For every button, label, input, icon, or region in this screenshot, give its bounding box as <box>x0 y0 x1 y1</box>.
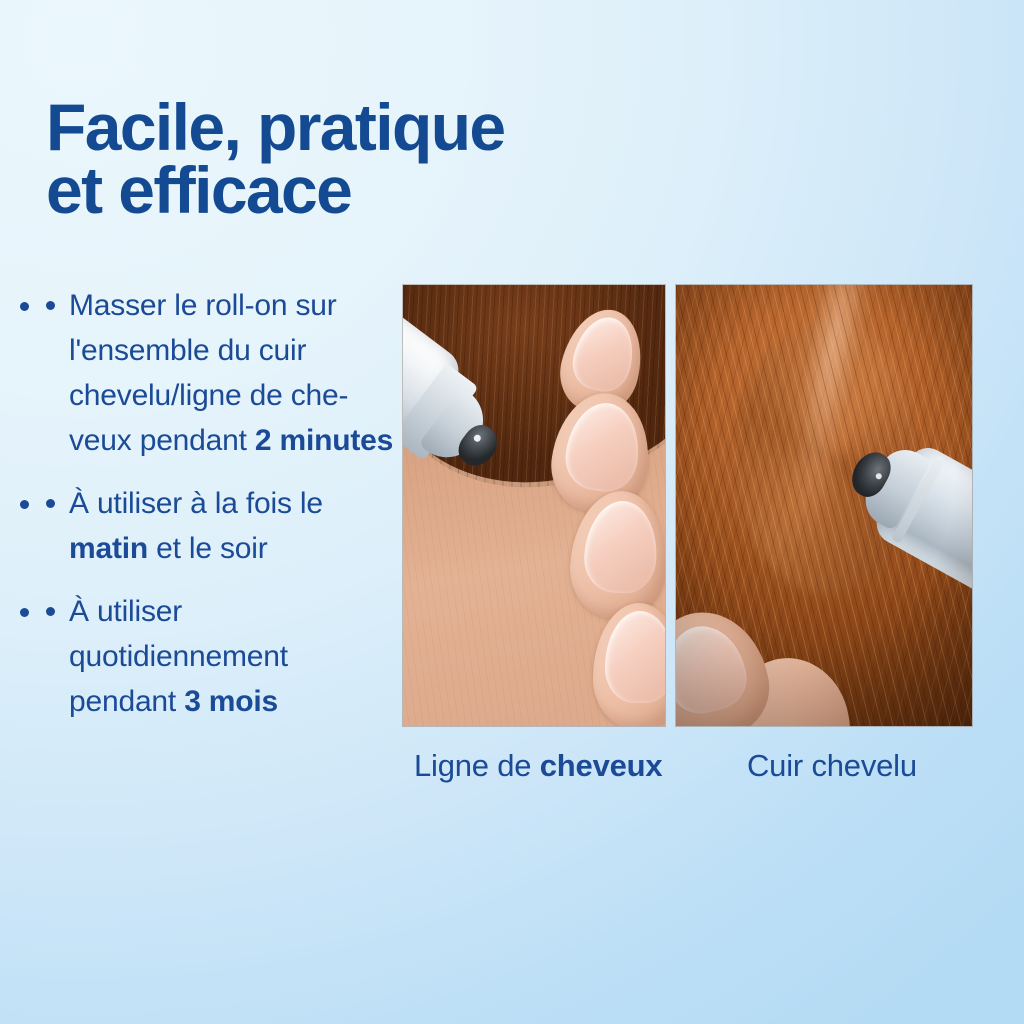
list-item-text: À utiliser à la fois le matin et le soir <box>69 487 323 565</box>
list-item-text-after: et le soir <box>148 532 268 565</box>
list-item-text: À utiliser quotidiennement pendant 3 moi… <box>69 595 288 718</box>
caption-hairline: Ligne de cheveux <box>414 748 662 784</box>
bullet-dot-icon <box>46 301 55 310</box>
list-item-emphasis: 3 mois <box>184 685 278 718</box>
list-item: Masser le roll-on sur l'ensemble du cuir… <box>44 283 396 463</box>
headline-line-2: et efficace <box>46 159 686 222</box>
photo-vignette <box>676 285 972 726</box>
list-item-emphasis: 2 minutes <box>255 424 393 457</box>
photo-hairline-scene: 5,1 FL <box>403 285 665 726</box>
photo-scalp <box>676 285 972 726</box>
list-item: À utiliser quotidiennement pendant 3 moi… <box>44 589 396 724</box>
bullet-dot-icon <box>46 499 55 508</box>
list-item-emphasis: matin <box>69 532 148 565</box>
headline-line-1: Facile, pratique <box>46 96 686 159</box>
caption-hairline-emphasis: cheveux <box>540 748 663 783</box>
caption-hairline-before: Ligne de <box>414 748 540 783</box>
caption-scalp: Cuir chevelu <box>747 748 917 784</box>
list-item: À utiliser à la fois le matin et le soir <box>44 481 396 571</box>
promo-poster: Facile, pratique et efficace Masser le r… <box>0 0 1024 1024</box>
photo-hairline: 5,1 FL <box>403 285 665 726</box>
instructions-list: Masser le roll-on sur l'ensemble du cuir… <box>44 283 396 724</box>
page-title: Facile, pratique et efficace <box>46 96 686 221</box>
photo-scalp-scene <box>676 285 972 726</box>
list-item-text: Masser le roll-on sur l'ensemble du cuir… <box>69 289 393 457</box>
bullet-dot-icon <box>46 607 55 616</box>
caption-scalp-before: Cuir chevelu <box>747 748 917 783</box>
list-item-text-before: À utiliser à la fois le <box>69 487 323 520</box>
